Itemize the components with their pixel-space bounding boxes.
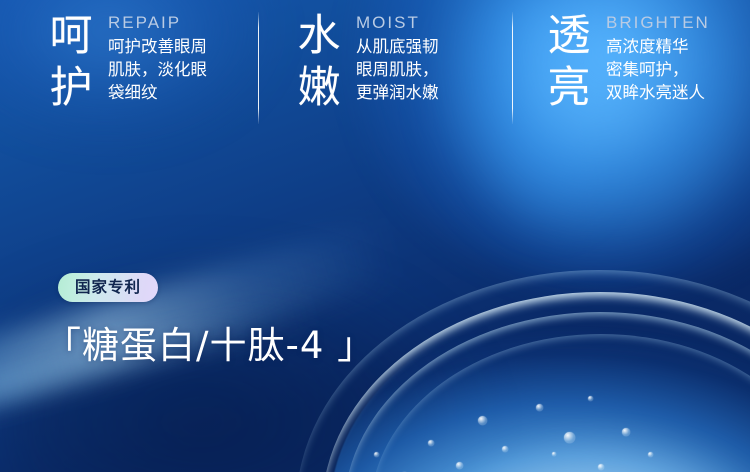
sphere-inner-glow	[396, 374, 750, 472]
promo-banner: 呵 护 REPAIP 呵护改善眼周 肌肤，淡化眼 袋细纹 水 嫩 MOIST 从…	[0, 0, 750, 472]
ingredient-headline: 「糖蛋白/十肽-4 」	[44, 322, 375, 370]
bubble	[374, 452, 379, 457]
sphere-rim-1	[322, 292, 750, 472]
column-divider-1	[258, 12, 259, 124]
sphere-rim-2	[344, 312, 750, 472]
column-divider-2	[512, 12, 513, 124]
feature-big-label: 透 亮	[542, 0, 596, 140]
water-gel-sphere	[330, 300, 750, 472]
bubble	[552, 452, 556, 456]
feature-list: 呵 护 REPAIP 呵护改善眼周 肌肤，淡化眼 袋细纹 水 嫩 MOIST 从…	[0, 0, 750, 140]
bubble	[478, 416, 487, 425]
bubble	[598, 464, 604, 470]
feature-cn-label: 从肌底强韧 眼周肌肤， 更弹润水嫩	[356, 35, 439, 104]
sphere-rim-outer	[296, 270, 750, 472]
feature-en-label: MOIST	[356, 13, 439, 32]
feature-cn-label: 呵护改善眼周 肌肤，淡化眼 袋细纹	[108, 35, 207, 104]
bubble	[622, 428, 630, 436]
sphere-rim-3	[370, 334, 750, 472]
feature-en-label: BRIGHTEN	[606, 13, 710, 32]
bubble	[536, 404, 543, 411]
feature-item-brighten: 透 亮 BRIGHTEN 高浓度精华 密集呵护， 双眸水亮迷人	[542, 0, 750, 140]
bubble	[648, 452, 653, 457]
bubble	[428, 440, 434, 446]
feature-item-repair: 呵 护 REPAIP 呵护改善眼周 肌肤，淡化眼 袋细纹	[44, 0, 244, 140]
bubble	[502, 446, 508, 452]
patent-badge: 国家专利	[58, 273, 158, 302]
light-streak-secondary	[0, 294, 316, 453]
feature-cn-label: 高浓度精华 密集呵护， 双眸水亮迷人	[606, 35, 710, 104]
feature-item-moist: 水 嫩 MOIST 从肌底强韧 眼周肌肤， 更弹润水嫩	[292, 0, 492, 140]
feature-en-label: REPAIP	[108, 13, 207, 32]
feature-big-label: 水 嫩	[292, 0, 346, 140]
feature-big-label: 呵 护	[44, 0, 98, 140]
bubble	[456, 462, 463, 469]
bubble	[588, 396, 593, 401]
sphere-body	[330, 300, 750, 472]
bubble	[564, 432, 575, 443]
